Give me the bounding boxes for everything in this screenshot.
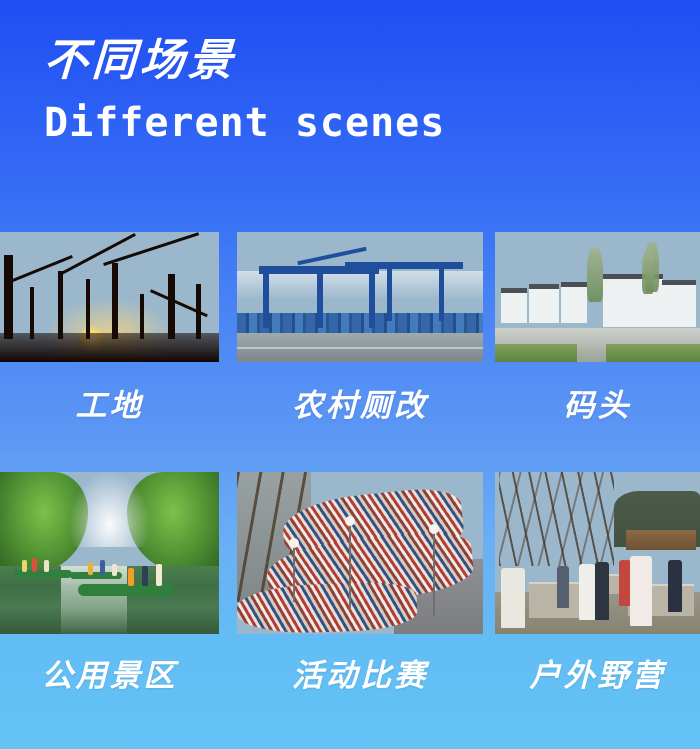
container-stacks bbox=[237, 313, 483, 334]
scene-caption-village: 码头 bbox=[495, 380, 700, 425]
poster-header: 不同场景 Different scenes bbox=[44, 36, 644, 145]
sky-haze bbox=[237, 271, 483, 300]
river-haze bbox=[70, 472, 149, 547]
page-title-chinese: 不同场景 bbox=[43, 36, 646, 87]
scene-caption-port: 农村厕改 bbox=[237, 380, 483, 425]
scene-image-village bbox=[495, 232, 700, 362]
scene-caption-camping: 户外野营 bbox=[495, 650, 700, 695]
scene-image-camping bbox=[495, 472, 700, 634]
scene-card-village[interactable]: 码头 bbox=[495, 232, 700, 362]
scene-card-port[interactable]: 农村厕改 bbox=[237, 232, 483, 362]
village-lawn-right bbox=[606, 344, 700, 362]
scene-card-race-event[interactable]: 活动比赛 bbox=[237, 472, 483, 634]
scene-card-camping[interactable]: 户外野营 bbox=[495, 472, 700, 634]
poster-banner: 不同场景 Different scenes bbox=[0, 0, 700, 749]
scene-card-construction[interactable]: 工地 bbox=[0, 232, 219, 362]
village-lawn-left bbox=[495, 344, 577, 362]
dock-lane-line bbox=[237, 347, 483, 349]
scene-image-scenic-area bbox=[0, 472, 219, 634]
scene-image-construction bbox=[0, 232, 219, 362]
scene-image-race-event bbox=[237, 472, 483, 634]
scene-row-2: 公用景区 活动比赛 bbox=[0, 472, 700, 687]
scene-caption-scenic-area: 公用景区 bbox=[0, 650, 219, 695]
page-title-english: Different scenes bbox=[44, 101, 644, 145]
bare-branches bbox=[499, 472, 614, 566]
scene-card-scenic-area[interactable]: 公用景区 bbox=[0, 472, 219, 634]
scene-row-1: 工地 农村厕改 bbox=[0, 232, 700, 437]
wooden-shelter bbox=[626, 530, 696, 549]
scene-caption-race-event: 活动比赛 bbox=[237, 650, 483, 695]
scene-caption-construction: 工地 bbox=[0, 380, 219, 425]
scene-image-port bbox=[237, 232, 483, 362]
